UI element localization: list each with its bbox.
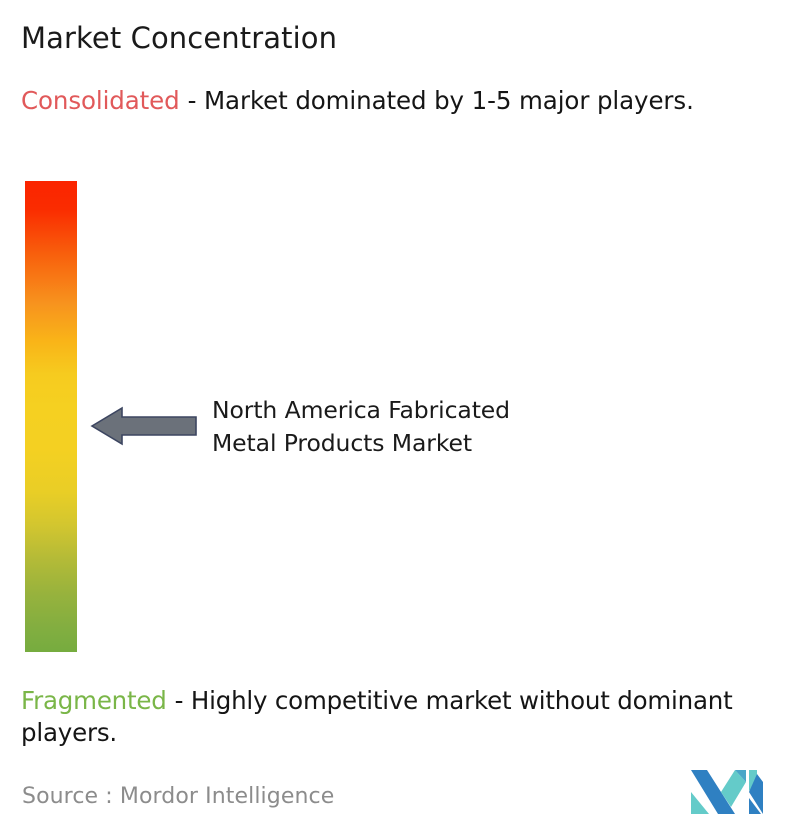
arrow-left-icon xyxy=(90,404,198,448)
consolidated-legend-caption: Consolidated- Market dominated by 1-5 ma… xyxy=(21,85,781,117)
fragmented-keyword: Fragmented xyxy=(21,686,167,715)
market-marker-label: North America Fabricated Metal Products … xyxy=(212,394,642,460)
market-concentration-infographic: Market Concentration Consolidated- Marke… xyxy=(0,0,796,834)
market-marker-label-line-1: North America Fabricated xyxy=(212,394,642,427)
consolidated-description: - Market dominated by 1-5 major players. xyxy=(188,86,694,115)
fragmented-legend-caption: Fragmented- Highly competitive market wi… xyxy=(21,685,789,749)
source-value: Mordor Intelligence xyxy=(120,784,334,809)
consolidated-keyword: Consolidated xyxy=(21,86,180,115)
source-attribution: Source : Mordor Intelligence xyxy=(22,783,334,811)
market-marker-label-line-2: Metal Products Market xyxy=(212,427,642,460)
mordor-intelligence-logo xyxy=(691,770,763,814)
page-title: Market Concentration xyxy=(21,20,337,56)
concentration-gradient-scale xyxy=(25,181,77,652)
source-label: Source : xyxy=(22,784,113,809)
